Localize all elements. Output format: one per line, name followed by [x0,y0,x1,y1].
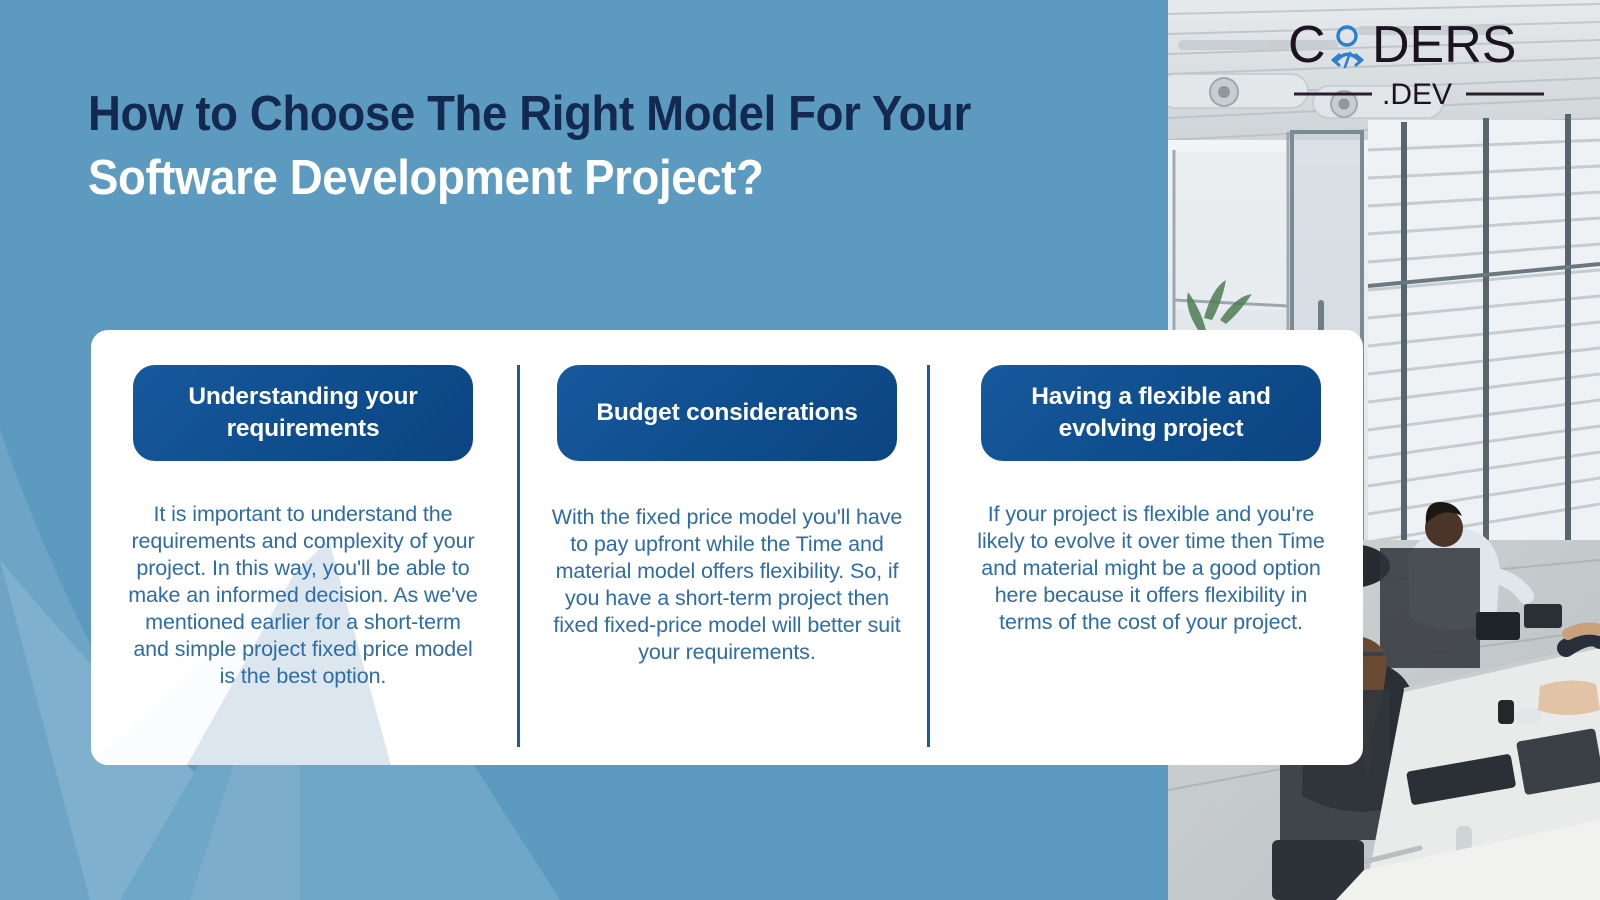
column-understanding-requirements: Understanding your requirements It is im… [91,330,515,765]
column-budget-considerations: Budget considerations With the fixed pri… [515,330,939,765]
logo-dev-suffix: .DEV [1382,78,1452,110]
infographic-page: C DERS .DEV How to Choose The Right Mode… [0,0,1600,900]
column-title-pill-1[interactable]: Understanding your requirements [133,365,473,461]
coders-dev-logo: C DERS .DEV [1288,18,1550,110]
column-title-pill-3[interactable]: Having a flexible and evolving project [981,365,1321,461]
logo-ders-letters: DERS [1372,18,1516,74]
page-title: How to Choose The Right Model For Your S… [88,82,1108,210]
column-body-2: With the fixed price model you'll have t… [551,504,903,666]
column-divider-2 [927,365,930,747]
logo-c-letter: C [1288,18,1326,74]
column-title-pill-2[interactable]: Budget considerations [557,365,897,461]
column-flexible-evolving-project: Having a flexible and evolving project I… [939,330,1363,765]
page-title-line-1: How to Choose The Right Model For Your [88,82,1037,146]
column-body-1: It is important to understand the requir… [125,501,481,690]
column-body-3: If your project is flexible and you're l… [971,501,1331,636]
page-title-line-2: Software Development Project? [88,146,1037,210]
content-card: Understanding your requirements It is im… [91,330,1363,765]
column-divider-1 [517,365,520,747]
person-code-icon [1333,27,1362,67]
